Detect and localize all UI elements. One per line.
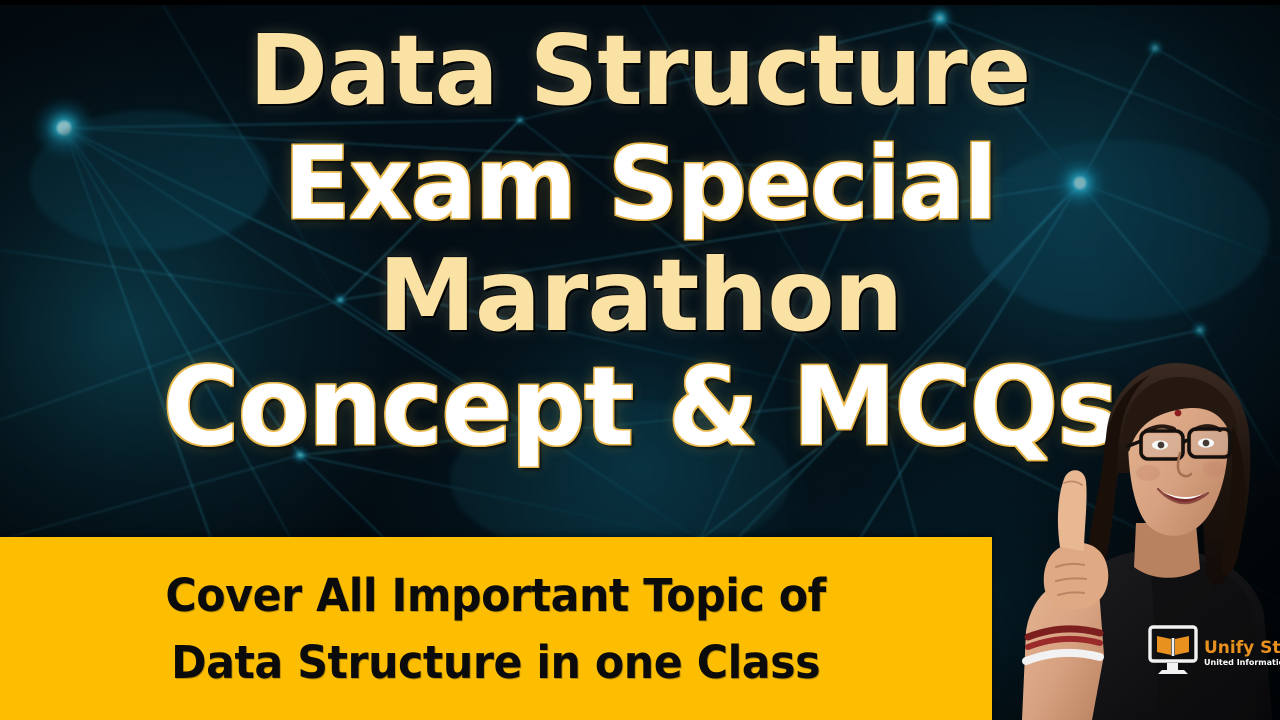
open-book-icon bbox=[1157, 636, 1189, 656]
banner-line-2: Data Structure in one Class bbox=[171, 636, 820, 689]
title-line-2: Exam Special bbox=[284, 133, 996, 235]
title-line-4: Concept & MCQs bbox=[163, 353, 1118, 463]
bindi bbox=[1175, 410, 1182, 417]
video-thumbnail: Data Structure Exam Special Marathon Con… bbox=[0, 0, 1280, 720]
shirt-logo-tagline: United Information bbox=[1204, 658, 1280, 667]
title-line-1: Data Structure bbox=[249, 22, 1030, 121]
title-line-3: Marathon bbox=[378, 245, 902, 347]
shirt-logo-brand: Unify Stu bbox=[1204, 638, 1280, 658]
banner-line-1: Cover All Important Topic of bbox=[166, 569, 826, 622]
presenter-photo: Unify Stu United Information bbox=[1000, 355, 1280, 720]
subtitle-banner: Cover All Important Topic of Data Struct… bbox=[0, 537, 992, 720]
